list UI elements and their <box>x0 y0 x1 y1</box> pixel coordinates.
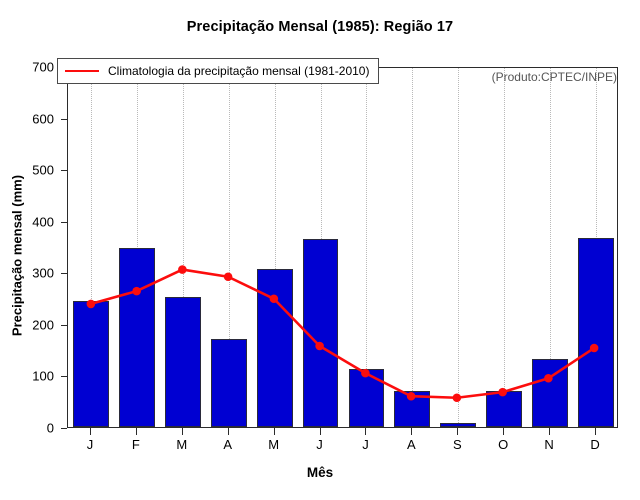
y-axis-tick-label: 700 <box>12 60 54 75</box>
y-axis-tick-mark <box>61 273 67 274</box>
y-axis-label: Precipitação mensal (mm) <box>10 146 25 366</box>
x-axis-tick-mark <box>549 428 550 435</box>
plot-area <box>67 67 618 428</box>
x-axis-tick-label: A <box>391 437 431 452</box>
x-axis-tick-mark <box>457 428 458 435</box>
y-axis-tick-mark <box>61 428 67 429</box>
x-axis-tick-mark <box>411 428 412 435</box>
x-axis-tick-label: A <box>208 437 248 452</box>
y-axis-tick-label: 0 <box>12 421 54 436</box>
climatology-marker <box>224 272 233 281</box>
x-axis-tick-label: J <box>70 437 110 452</box>
legend-line-swatch <box>65 70 99 72</box>
y-axis-tick-mark <box>61 170 67 171</box>
legend: Climatologia da precipitação mensal (198… <box>57 58 379 84</box>
climatology-line <box>91 270 594 398</box>
x-axis-tick-label: N <box>529 437 569 452</box>
x-axis-tick-label: D <box>575 437 615 452</box>
x-axis-tick-mark <box>365 428 366 435</box>
x-axis-tick-label: M <box>162 437 202 452</box>
legend-item-label: Climatologia da precipitação mensal (198… <box>108 64 369 78</box>
x-axis-tick-mark <box>595 428 596 435</box>
plot-inner <box>68 68 617 427</box>
chart-figure: Precipitação Mensal (1985): Região 17 Pr… <box>0 0 640 500</box>
climatology-marker <box>178 265 187 274</box>
climatology-marker <box>315 342 324 351</box>
climatology-marker <box>270 295 279 304</box>
x-axis-tick-label: S <box>437 437 477 452</box>
x-axis-tick-mark <box>182 428 183 435</box>
x-axis-tick-mark <box>136 428 137 435</box>
climatology-marker <box>590 344 599 353</box>
x-axis-tick-mark <box>90 428 91 435</box>
x-axis-label: Mês <box>0 465 640 480</box>
x-axis-tick-label: M <box>254 437 294 452</box>
climatology-marker <box>544 374 553 383</box>
x-axis-tick-label: J <box>345 437 385 452</box>
climatology-marker <box>361 369 370 378</box>
x-axis-tick-label: J <box>300 437 340 452</box>
product-note: (Produto:CPTEC/INPE) <box>492 70 617 84</box>
climatology-marker <box>498 388 507 397</box>
y-axis-tick-label: 300 <box>12 266 54 281</box>
y-axis-tick-label: 200 <box>12 317 54 332</box>
y-axis-tick-mark <box>61 119 67 120</box>
x-axis-tick-mark <box>274 428 275 435</box>
y-axis-tick-label: 500 <box>12 163 54 178</box>
climatology-marker <box>87 300 96 309</box>
x-axis-tick-label: O <box>483 437 523 452</box>
climatology-marker <box>453 393 462 402</box>
x-axis-tick-mark <box>503 428 504 435</box>
climatology-marker <box>132 287 141 296</box>
chart-title: Precipitação Mensal (1985): Região 17 <box>0 19 640 35</box>
x-axis-tick-mark <box>228 428 229 435</box>
x-axis-tick-label: F <box>116 437 156 452</box>
y-axis-tick-label: 400 <box>12 214 54 229</box>
x-axis-tick-mark <box>320 428 321 435</box>
y-axis-tick-mark <box>61 325 67 326</box>
y-axis-tick-label: 600 <box>12 111 54 126</box>
y-axis-tick-label: 100 <box>12 369 54 384</box>
y-axis-tick-mark <box>61 222 67 223</box>
climatology-line-series <box>68 68 617 427</box>
y-axis-tick-mark <box>61 376 67 377</box>
climatology-marker <box>407 392 416 401</box>
